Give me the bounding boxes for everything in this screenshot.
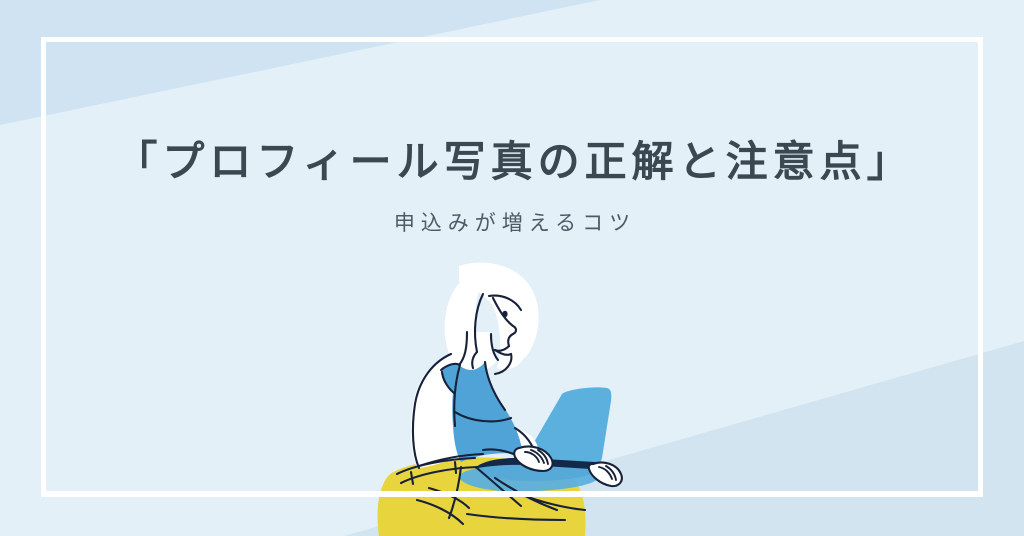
frame-bottom-edge-overlay bbox=[41, 491, 983, 497]
headline-block: 「プロフィール写真の正解と注意点」 申込みが増えるコツ bbox=[0, 136, 1024, 237]
page-subtitle: 申込みが増えるコツ bbox=[0, 207, 1024, 237]
page-title: 「プロフィール写真の正解と注意点」 bbox=[0, 136, 1024, 189]
eye-detail bbox=[502, 311, 507, 318]
banner-canvas: 「プロフィール写真の正解と注意点」 申込みが増えるコツ bbox=[0, 0, 1024, 536]
